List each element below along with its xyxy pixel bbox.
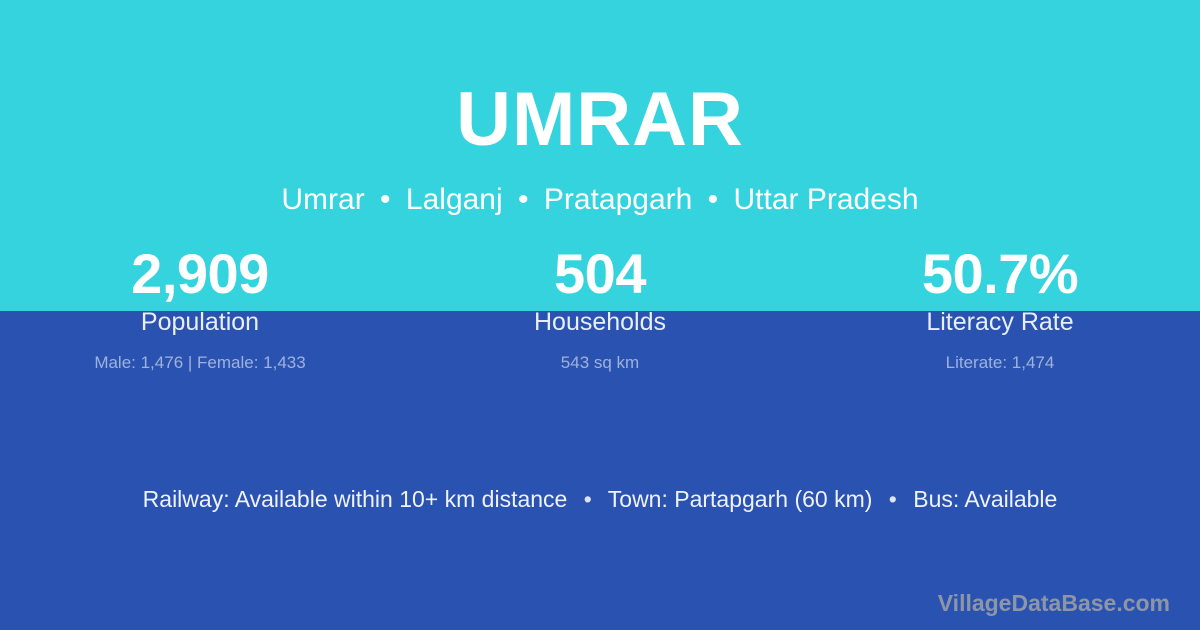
breadcrumb: Umrar • Lalganj • Pratapgarh • Uttar Pra… [0, 180, 1200, 219]
stat-population: 2,909 Population Male: 1,476 | Female: 1… [0, 244, 400, 374]
breadcrumb-state: Uttar Pradesh [734, 183, 919, 216]
site-brand: VillageDataBase.com [938, 590, 1170, 618]
infrastructure-railway: Railway: Available within 10+ km distanc… [143, 486, 568, 512]
stat-sublabel: Male: 1,476 | Female: 1,433 [0, 351, 400, 375]
infrastructure-line: Railway: Available within 10+ km distanc… [0, 485, 1200, 515]
stat-households: 504 Households 543 sq km [400, 244, 800, 374]
stat-value: 2,909 [0, 244, 400, 304]
stat-value: 504 [400, 244, 800, 304]
breadcrumb-district: Pratapgarh [544, 183, 692, 216]
breadcrumb-separator-1: • [373, 183, 398, 216]
stat-label: Households [400, 306, 800, 340]
infrastructure-separator-2: • [879, 486, 907, 512]
stat-sublabel: 543 sq km [400, 351, 800, 375]
infrastructure-bus: Bus: Available [913, 486, 1057, 512]
breadcrumb-block: Lalganj [406, 183, 503, 216]
stat-label: Population [0, 306, 400, 340]
breadcrumb-separator-3: • [701, 183, 726, 216]
breadcrumb-separator-2: • [511, 183, 536, 216]
infrastructure-separator-1: • [574, 486, 602, 512]
page-title: UMRAR [0, 82, 1200, 158]
infrastructure-town: Town: Partapgarh (60 km) [608, 486, 873, 512]
breadcrumb-village: Umrar [281, 183, 364, 216]
stat-literacy-rate: 50.7% Literacy Rate Literate: 1,474 [800, 244, 1200, 374]
stat-value: 50.7% [800, 244, 1200, 304]
stat-sublabel: Literate: 1,474 [800, 351, 1200, 375]
card-content: UMRAR Umrar • Lalganj • Pratapgarh • Utt… [0, 0, 1200, 630]
stat-label: Literacy Rate [800, 306, 1200, 340]
stats-row: 2,909 Population Male: 1,476 | Female: 1… [0, 244, 1200, 374]
village-info-card: UMRAR Umrar • Lalganj • Pratapgarh • Utt… [0, 0, 1200, 630]
